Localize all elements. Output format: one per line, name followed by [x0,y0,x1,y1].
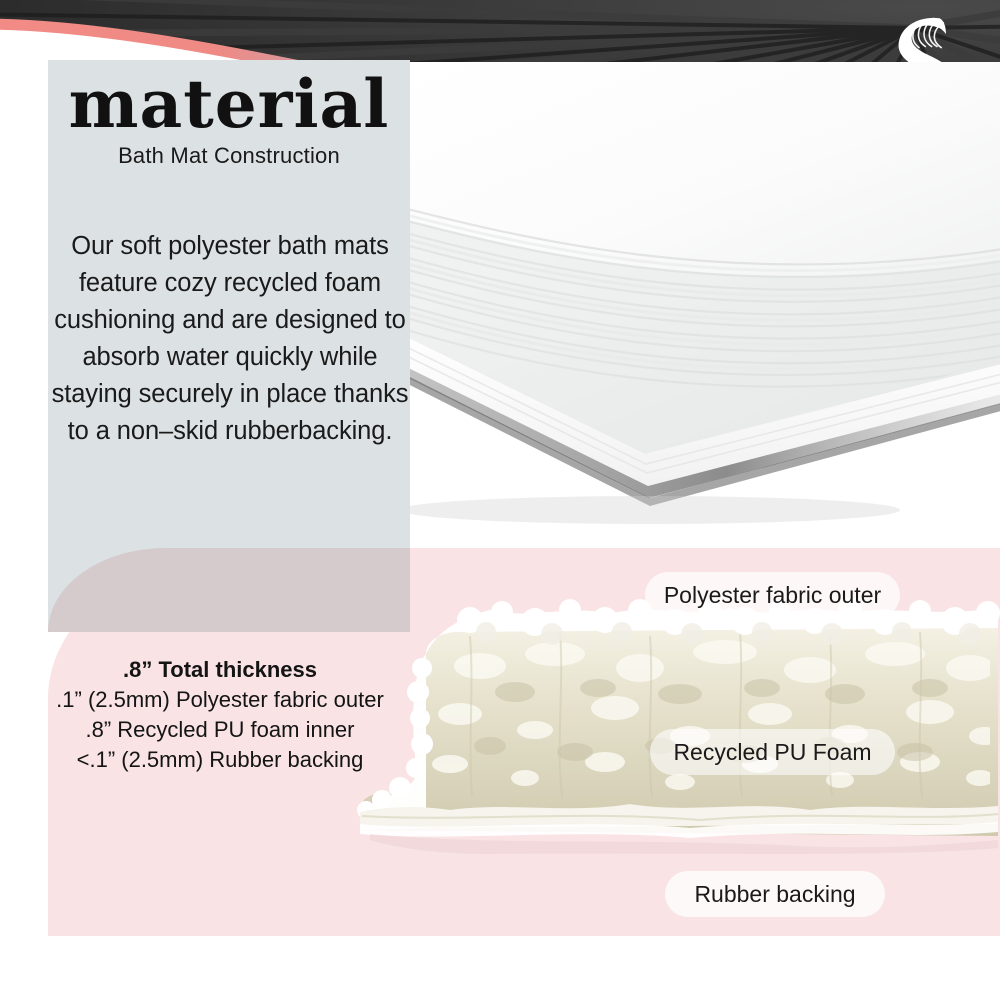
intro-paragraph: Our soft polyester bath mats feature coz… [46,228,414,450]
spec-line-rubber: <.1” (2.5mm) Rubber backing [40,745,400,775]
page-subtitle: Bath Mat Construction [48,142,410,170]
callout-polyester-fabric-outer: Polyester fabric outer [645,572,900,618]
spec-total-thickness: .8” Total thickness [40,655,400,685]
spec-line-foam: .8” Recycled PU foam inner [40,715,400,745]
bath-mat-photo [400,62,1000,552]
callout-rubber-backing: Rubber backing [665,871,885,917]
page-title: material [48,68,410,140]
infographic-canvas: material Bath Mat Construction Our soft … [0,0,1000,1000]
spec-line-outer: .1” (2.5mm) Polyester fabric outer [40,685,400,715]
callout-recycled-pu-foam: Recycled PU Foam [650,729,895,775]
thickness-spec-list: .8” Total thickness .1” (2.5mm) Polyeste… [40,655,400,775]
